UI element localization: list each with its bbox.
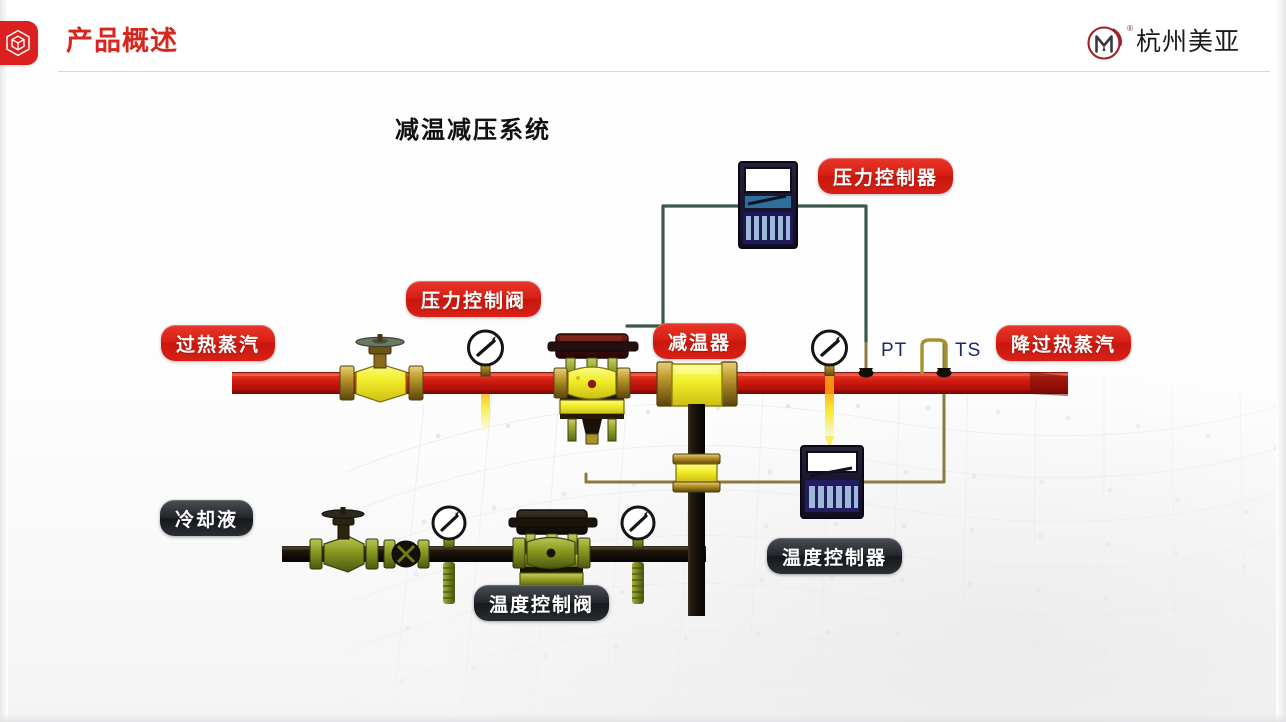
header-divider [58,71,1270,72]
pressure-control-valve [548,334,638,444]
label-desuperheated-steam[interactable]: 降过热蒸汽 [996,325,1131,361]
slide-root: 产品概述 ® 杭州美亚 减温减压系统 [0,0,1286,722]
tag-pt: PT [881,340,907,362]
desuperheater [657,362,737,406]
label-text: 温度控制阀 [489,590,594,617]
diagram-title: 减温减压系统 [395,110,551,145]
water-line-corner [688,538,705,562]
label-desuperheater[interactable]: 减温器 [653,323,746,359]
label-coolant[interactable]: 冷却液 [160,500,253,536]
label-text: 压力控制阀 [421,286,526,313]
brand-logo: ® 杭州美亚 [1083,20,1240,64]
steam-gate-valve [340,334,423,402]
label-pressure-control-valve[interactable]: 压力控制阀 [406,281,541,317]
tag-ts: TS [955,340,981,362]
label-temperature-controller[interactable]: 温度控制器 [767,538,902,574]
registered-mark: ® [1127,24,1133,33]
label-temperature-control-valve[interactable]: 温度控制阀 [474,585,609,621]
pressure-controller-device [739,162,797,248]
label-text: 过热蒸汽 [176,330,260,357]
cube-hexagon-icon [5,29,31,57]
label-pressure-controller[interactable]: 压力控制器 [818,158,953,194]
brand-name: 杭州美亚 [1136,20,1240,64]
pid-diagram [0,76,1286,722]
cooling-water-riser [673,404,720,616]
label-text: 冷却液 [175,505,238,532]
temperature-controller-device [801,446,863,518]
label-text: 温度控制器 [782,543,887,570]
coolant-gate-valve [310,507,378,572]
label-text: 压力控制器 [833,163,938,190]
label-text: 减温器 [668,328,731,355]
label-text: 降过热蒸汽 [1011,330,1116,357]
coolant-strainer [384,540,429,568]
page-title: 产品概述 [66,26,178,56]
m-circle-logo-icon: ® [1083,20,1127,64]
product-icon-chip [0,21,38,65]
slide-header: 产品概述 ® 杭州美亚 [0,0,1286,76]
label-superheated-steam[interactable]: 过热蒸汽 [161,325,275,361]
